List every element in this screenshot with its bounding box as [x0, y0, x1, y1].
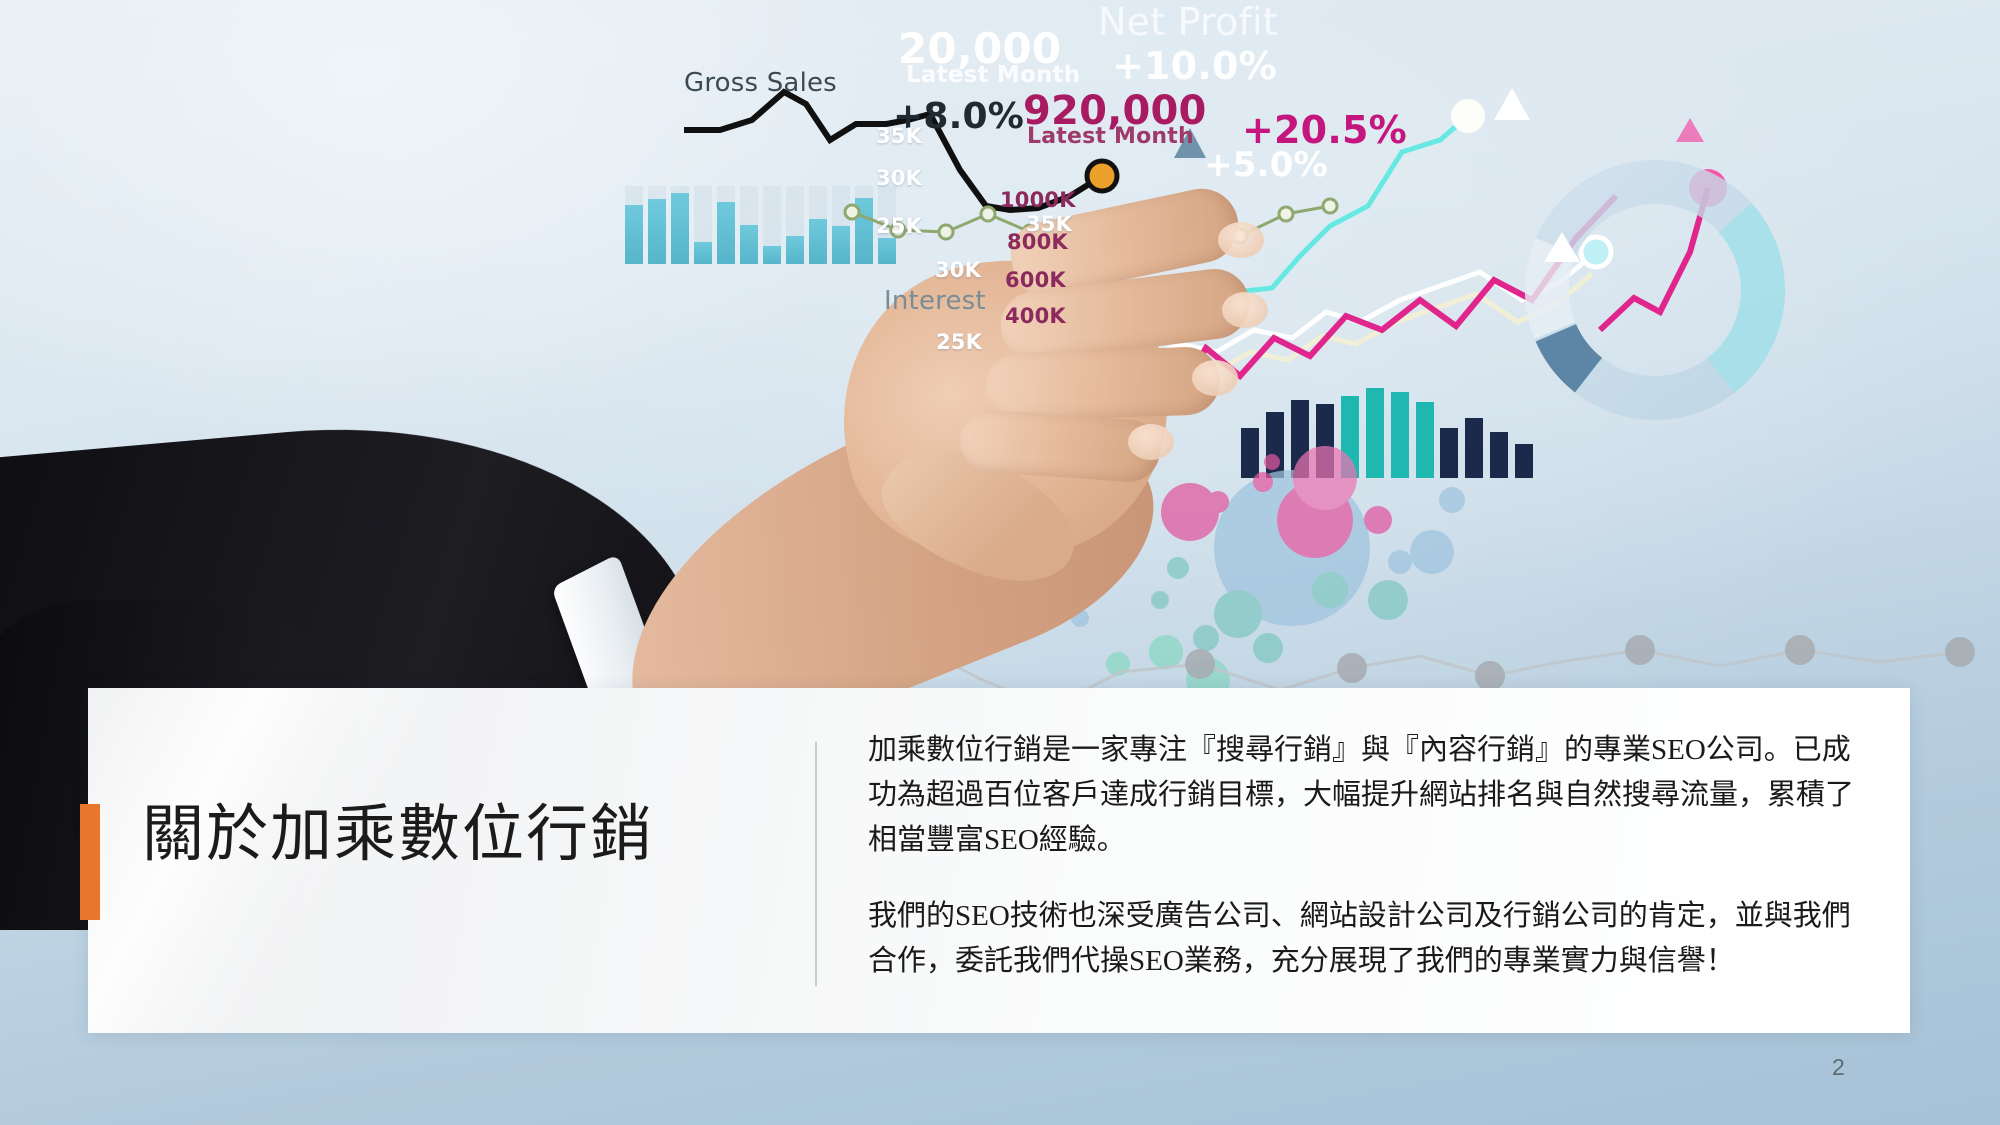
metric-caption-profit: Latest Month	[1027, 124, 1194, 149]
delta-5: +5.0%	[1204, 145, 1328, 185]
delta-10: +10.0%	[1112, 44, 1277, 88]
net-profit-label: Net Profit	[1098, 0, 1278, 44]
metric-caption-gross: Latest Month	[906, 62, 1080, 88]
axis-tick-1000k: 1000K	[1000, 188, 1076, 212]
gross-sales-label: Gross Sales	[684, 68, 837, 98]
body-paragraph-2: 我們的SEO技術也深受廣告公司、網站設計公司及行銷公司的肯定，並與我們合作，委託…	[868, 894, 1878, 984]
slide-canvas: Gross Sales Interest Net Profit 20,000 L…	[0, 0, 2000, 1125]
page-number: 2	[1832, 1054, 1845, 1081]
axis-tick-35k-upper: 35K	[876, 124, 922, 148]
axis-tick-800k: 800K	[1007, 230, 1068, 254]
axis-tick-25k-lower: 25K	[936, 330, 982, 354]
axis-tick-30k-mid: 30K	[935, 258, 981, 282]
axis-tick-25k-upper: 25K	[876, 214, 922, 238]
body-paragraph-1: 加乘數位行銷是一家專注『搜尋行銷』與『內容行銷』的專業SEO公司。已成功為超過百…	[868, 728, 1878, 864]
axis-tick-600k: 600K	[1005, 268, 1066, 292]
body-text-column: 加乘數位行銷是一家專注『搜尋行銷』與『內容行銷』的專業SEO公司。已成功為超過百…	[868, 728, 1878, 984]
page-title: 關於加乘數位行銷	[142, 800, 782, 871]
axis-tick-400k: 400K	[1005, 304, 1066, 328]
interest-label: Interest	[884, 286, 986, 316]
axis-tick-30k-upper: 30K	[876, 166, 922, 190]
accent-bar	[80, 804, 100, 920]
vertical-divider	[815, 742, 817, 986]
